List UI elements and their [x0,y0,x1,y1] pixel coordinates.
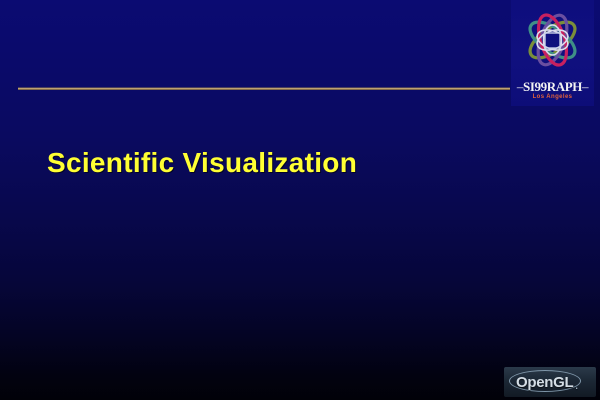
siggraph-logo: –SI99RAPH– Los Angeles [511,0,594,106]
opengl-text-label: OpenGL [516,374,573,391]
presentation-slide: Scientific Visualization –SI99RAPH– Los … [0,0,600,400]
opengl-logo: OpenGL . [504,367,596,397]
siggraph-city-label: Los Angeles [511,94,594,100]
slide-title: Scientific Visualization [47,147,357,179]
siggraph-rings-icon [511,2,594,78]
opengl-wordmark: OpenGL . [504,367,596,397]
wordmark-dash-right: – [582,79,588,94]
header-divider-rule [18,87,510,90]
opengl-trademark-mark: . [575,381,577,397]
siggraph-wordmark: –SI99RAPH– [511,79,594,95]
wordmark-text: SI99RAPH [523,79,582,94]
